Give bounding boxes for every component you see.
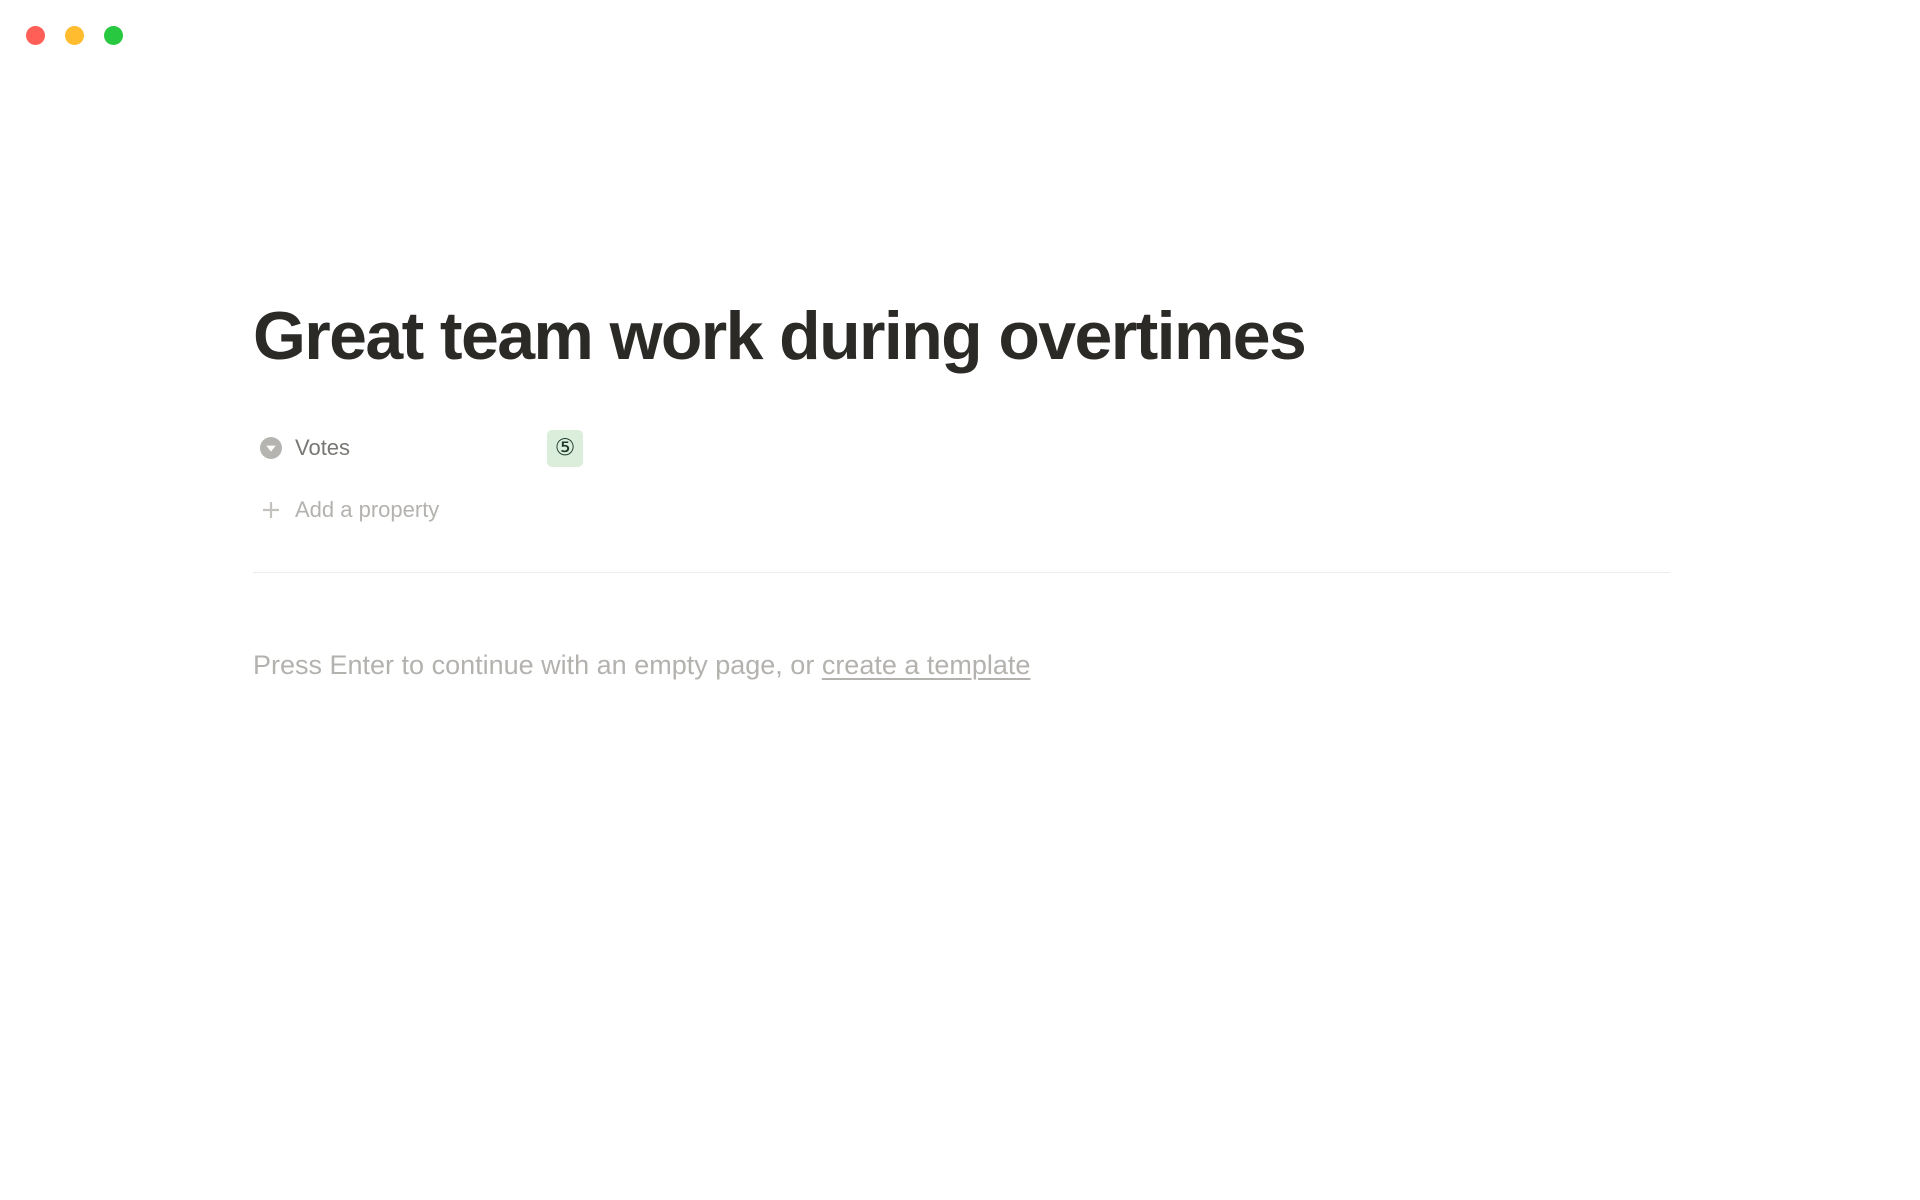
votes-badge: ⑤ — [547, 430, 583, 467]
property-label-votes: Votes — [295, 434, 350, 462]
plus-icon — [253, 498, 283, 522]
empty-page-hint-text: Press Enter to continue with an empty pa… — [253, 650, 822, 680]
app-window: Great team work during overtimes Votes ⑤ — [0, 0, 1920, 1200]
content-divider — [253, 572, 1670, 573]
empty-page-hint: Press Enter to continue with an empty pa… — [253, 645, 1030, 685]
page-title[interactable]: Great team work during overtimes — [253, 294, 1305, 378]
property-value-votes[interactable]: ⑤ — [543, 429, 587, 467]
page-content: Great team work during overtimes Votes ⑤ — [0, 0, 1920, 1200]
create-a-template-link[interactable]: create a template — [822, 650, 1031, 680]
property-row-votes: Votes ⑤ — [253, 424, 1673, 472]
select-dropdown-icon — [259, 436, 283, 460]
page-properties: Votes ⑤ Add a property — [253, 424, 1673, 534]
property-key-votes[interactable]: Votes — [253, 429, 543, 467]
add-property-label: Add a property — [295, 496, 439, 524]
add-property-button[interactable]: Add a property — [253, 486, 1673, 534]
